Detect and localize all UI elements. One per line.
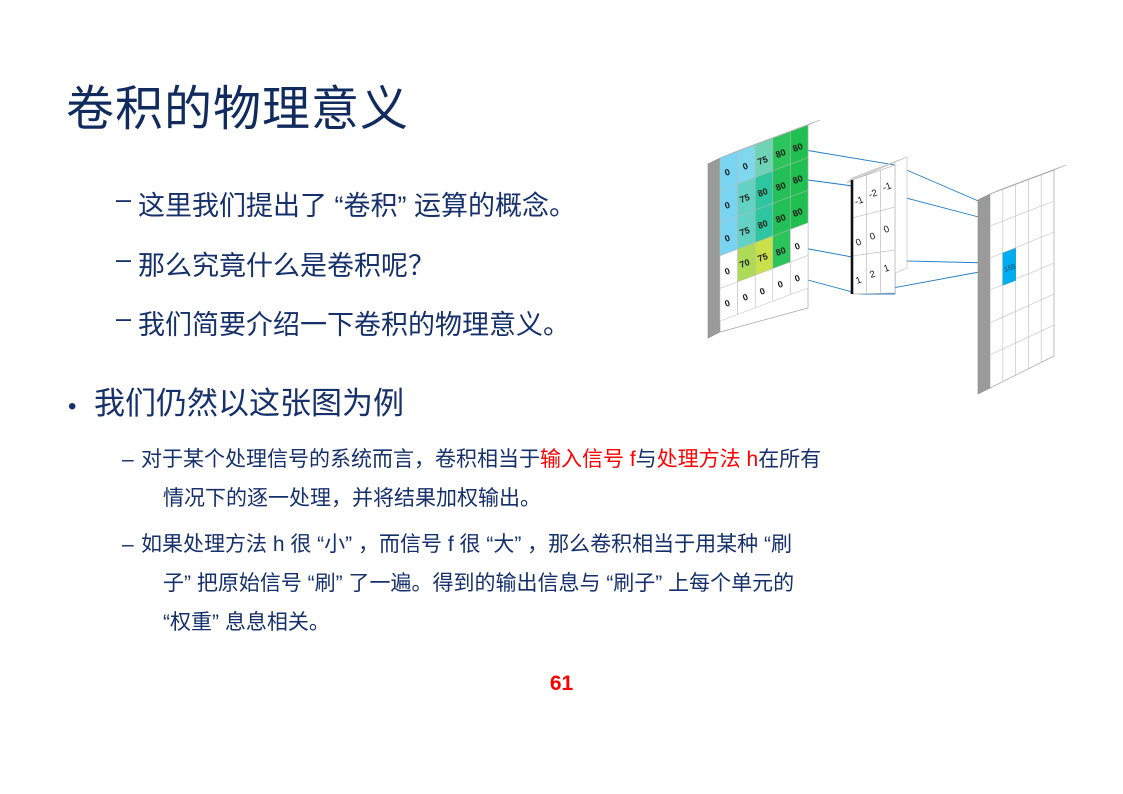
page-title: 卷积的物理意义 (66, 82, 409, 137)
slide-canvas: 卷积的物理意义 – 这里我们提出了 “卷积” 运算的概念。 – 那么究竟什么是卷… (0, 0, 1123, 794)
highlight-process-method: 处理方法 h (657, 448, 759, 471)
highlight-input-signal: 输入信号 f (540, 448, 636, 471)
sub-bullet-2: – 那么究竟什么是卷积呢？ (116, 244, 435, 283)
paragraph-2-line2: 子” 把原始信号 “刷” 了一遍。得到的输出信息与 “刷子” 上每个单元的 (141, 564, 794, 603)
paragraph-2-text: 如果处理方法 h 很 “小” ，而信号 f 很 “大” ，那么卷积相当于用某种 … (141, 525, 794, 642)
paragraph-2-line3: “权重” 息息相关。 (141, 603, 794, 642)
paragraph-1: – 对于某个处理信号的系统而言，卷积相当于输入信号 f与处理方法 h在所有 情况… (122, 440, 1102, 518)
output-feature-map: 155 (978, 165, 1066, 394)
sub-bullet-3: – 我们简要介绍一下卷积的物理意义。 (116, 303, 570, 342)
main-bullet: • 我们仍然以这张图为例 (68, 378, 404, 423)
paragraph-1-pre: 对于某个处理信号的系统而言，卷积相当于 (141, 448, 540, 471)
dash-marker: – (116, 303, 138, 334)
sobel-kernel: -1 -2 -1 0 0 0 1 2 1 (847, 157, 907, 294)
paragraph-2-line1: 如果处理方法 h 很 “小” ，而信号 f 很 “大” ，那么卷积相当于用某种 … (141, 525, 794, 564)
paragraph-1-text: 对于某个处理信号的系统而言，卷积相当于输入信号 f与处理方法 h在所有 情况下的… (141, 440, 821, 518)
sub-bullet-1: – 这里我们提出了 “卷积” 运算的概念。 (116, 184, 576, 223)
paragraph-2: – 如果处理方法 h 很 “小” ，而信号 f 很 “大” ，那么卷积相当于用某… (122, 525, 1102, 642)
sub-bullet-3-text: 我们简要介绍一下卷积的物理意义。 (138, 303, 570, 342)
convolution-diagram: 0 0 75 80 80 0 75 80 80 80 0 75 80 80 80… (690, 108, 1110, 408)
dash-marker: – (116, 184, 138, 215)
main-bullet-text: 我们仍然以这张图为例 (94, 378, 404, 423)
input-feature-map: 0 0 75 80 80 0 75 80 80 80 0 75 80 80 80… (708, 120, 820, 338)
sub-bullet-2-text: 那么究竟什么是卷积呢？ (138, 244, 435, 283)
bullet-dot-icon: • (68, 393, 94, 421)
page-number: 61 (0, 672, 1123, 696)
dash-marker: – (122, 440, 141, 479)
dash-marker: – (116, 244, 138, 275)
dash-marker: – (122, 525, 141, 564)
paragraph-1-post: 在所有 (758, 448, 821, 471)
paragraph-1-mid: 与 (636, 448, 657, 471)
paragraph-1-line2: 情况下的逐一处理，并将结果加权输出。 (141, 479, 821, 518)
sub-bullet-1-text: 这里我们提出了 “卷积” 运算的概念。 (138, 184, 576, 223)
